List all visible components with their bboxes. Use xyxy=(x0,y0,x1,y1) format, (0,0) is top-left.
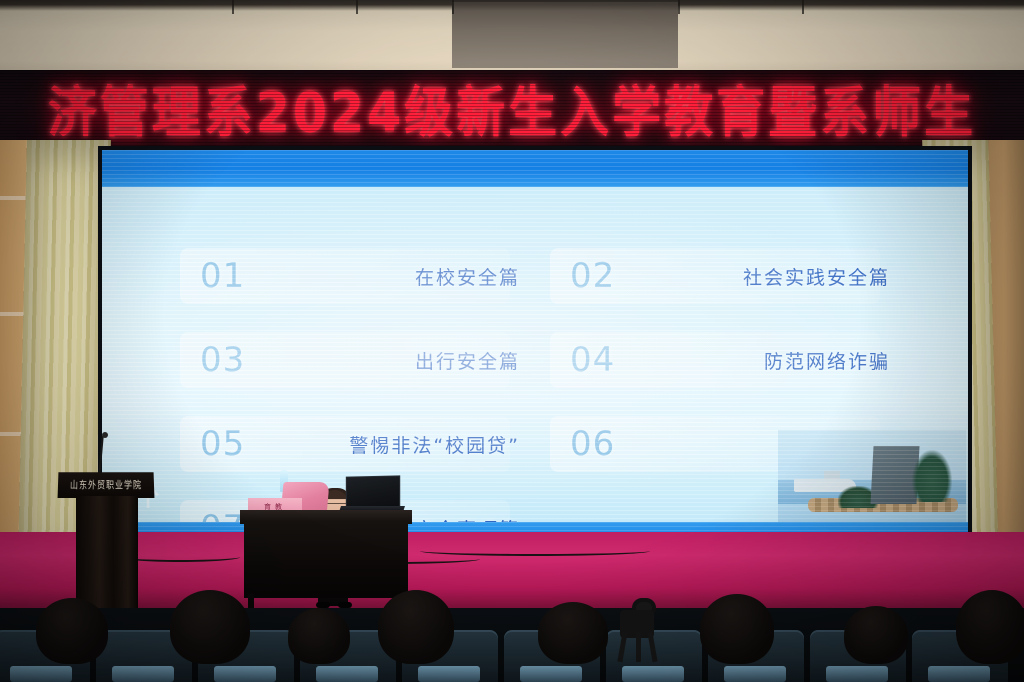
podium-body xyxy=(76,496,138,610)
wall-panel xyxy=(452,2,678,68)
agenda-label: 社会实践安全篇 xyxy=(660,246,890,306)
agenda-number: 03 xyxy=(180,330,245,390)
audience-seating xyxy=(0,608,1024,682)
agenda-item: 05 警惕非法“校园贷” xyxy=(180,414,550,474)
audience-head xyxy=(378,590,454,664)
laptop-screen xyxy=(346,475,400,508)
wall-seam xyxy=(452,0,454,14)
microphone-icon xyxy=(102,432,108,438)
back-wall xyxy=(0,0,1024,78)
audience-head xyxy=(36,598,108,664)
agenda-label: 出行安全篇 xyxy=(330,330,520,390)
audience-head xyxy=(700,594,774,664)
led-banner-text: 济管理系2024级新生入学教育暨系师生 xyxy=(48,70,976,146)
agenda-number: 01 xyxy=(180,246,245,306)
slide-top-band xyxy=(102,150,968,187)
auditorium-photo: 济管理系2024级新生入学教育暨系师生 外 01 在校安全篇 xyxy=(0,0,1024,682)
audience-head xyxy=(170,590,250,664)
stage-cable xyxy=(420,546,650,556)
slide-campus-photo xyxy=(778,430,966,522)
led-banner: 济管理系2024级新生入学教育暨系师生 xyxy=(0,70,1024,146)
agenda-label: 警惕非法“校园贷” xyxy=(290,414,520,474)
agenda-item: 04 防范网络诈骗 xyxy=(550,330,920,390)
agenda-label: 在校安全篇 xyxy=(330,246,520,306)
agenda-item: 01 在校安全篇 xyxy=(180,246,550,306)
agenda-number: 06 xyxy=(550,414,615,474)
podium-label: 山东外贸职业学院 xyxy=(70,478,142,492)
audience-head xyxy=(538,602,608,664)
audience-head xyxy=(288,608,350,664)
wall-seam xyxy=(356,0,358,14)
table-front-panel xyxy=(244,522,408,598)
agenda-number: 05 xyxy=(180,414,245,474)
audience-head xyxy=(956,590,1024,664)
projection-screen: 外 01 在校安全篇 02 社会实践安全篇 03 出行安全篇 xyxy=(102,150,968,556)
projection-screen-frame: 外 01 在校安全篇 02 社会实践安全篇 03 出行安全篇 xyxy=(98,146,972,560)
wall-seam xyxy=(802,0,804,14)
video-camera xyxy=(610,590,666,662)
podium: 山东外贸职业学院 xyxy=(58,472,154,610)
podium-top: 山东外贸职业学院 xyxy=(58,472,155,498)
agenda-number: 02 xyxy=(550,246,615,306)
audience-head xyxy=(844,606,908,664)
agenda-number: 04 xyxy=(550,330,615,390)
agenda-label: 防范网络诈骗 xyxy=(660,330,890,390)
agenda-item: 02 社会实践安全篇 xyxy=(550,246,920,306)
agenda-item: 03 出行安全篇 xyxy=(180,330,550,390)
presenter-table: 育教 xyxy=(240,510,412,610)
wall-seam xyxy=(232,0,234,14)
wall-seam xyxy=(678,0,680,14)
